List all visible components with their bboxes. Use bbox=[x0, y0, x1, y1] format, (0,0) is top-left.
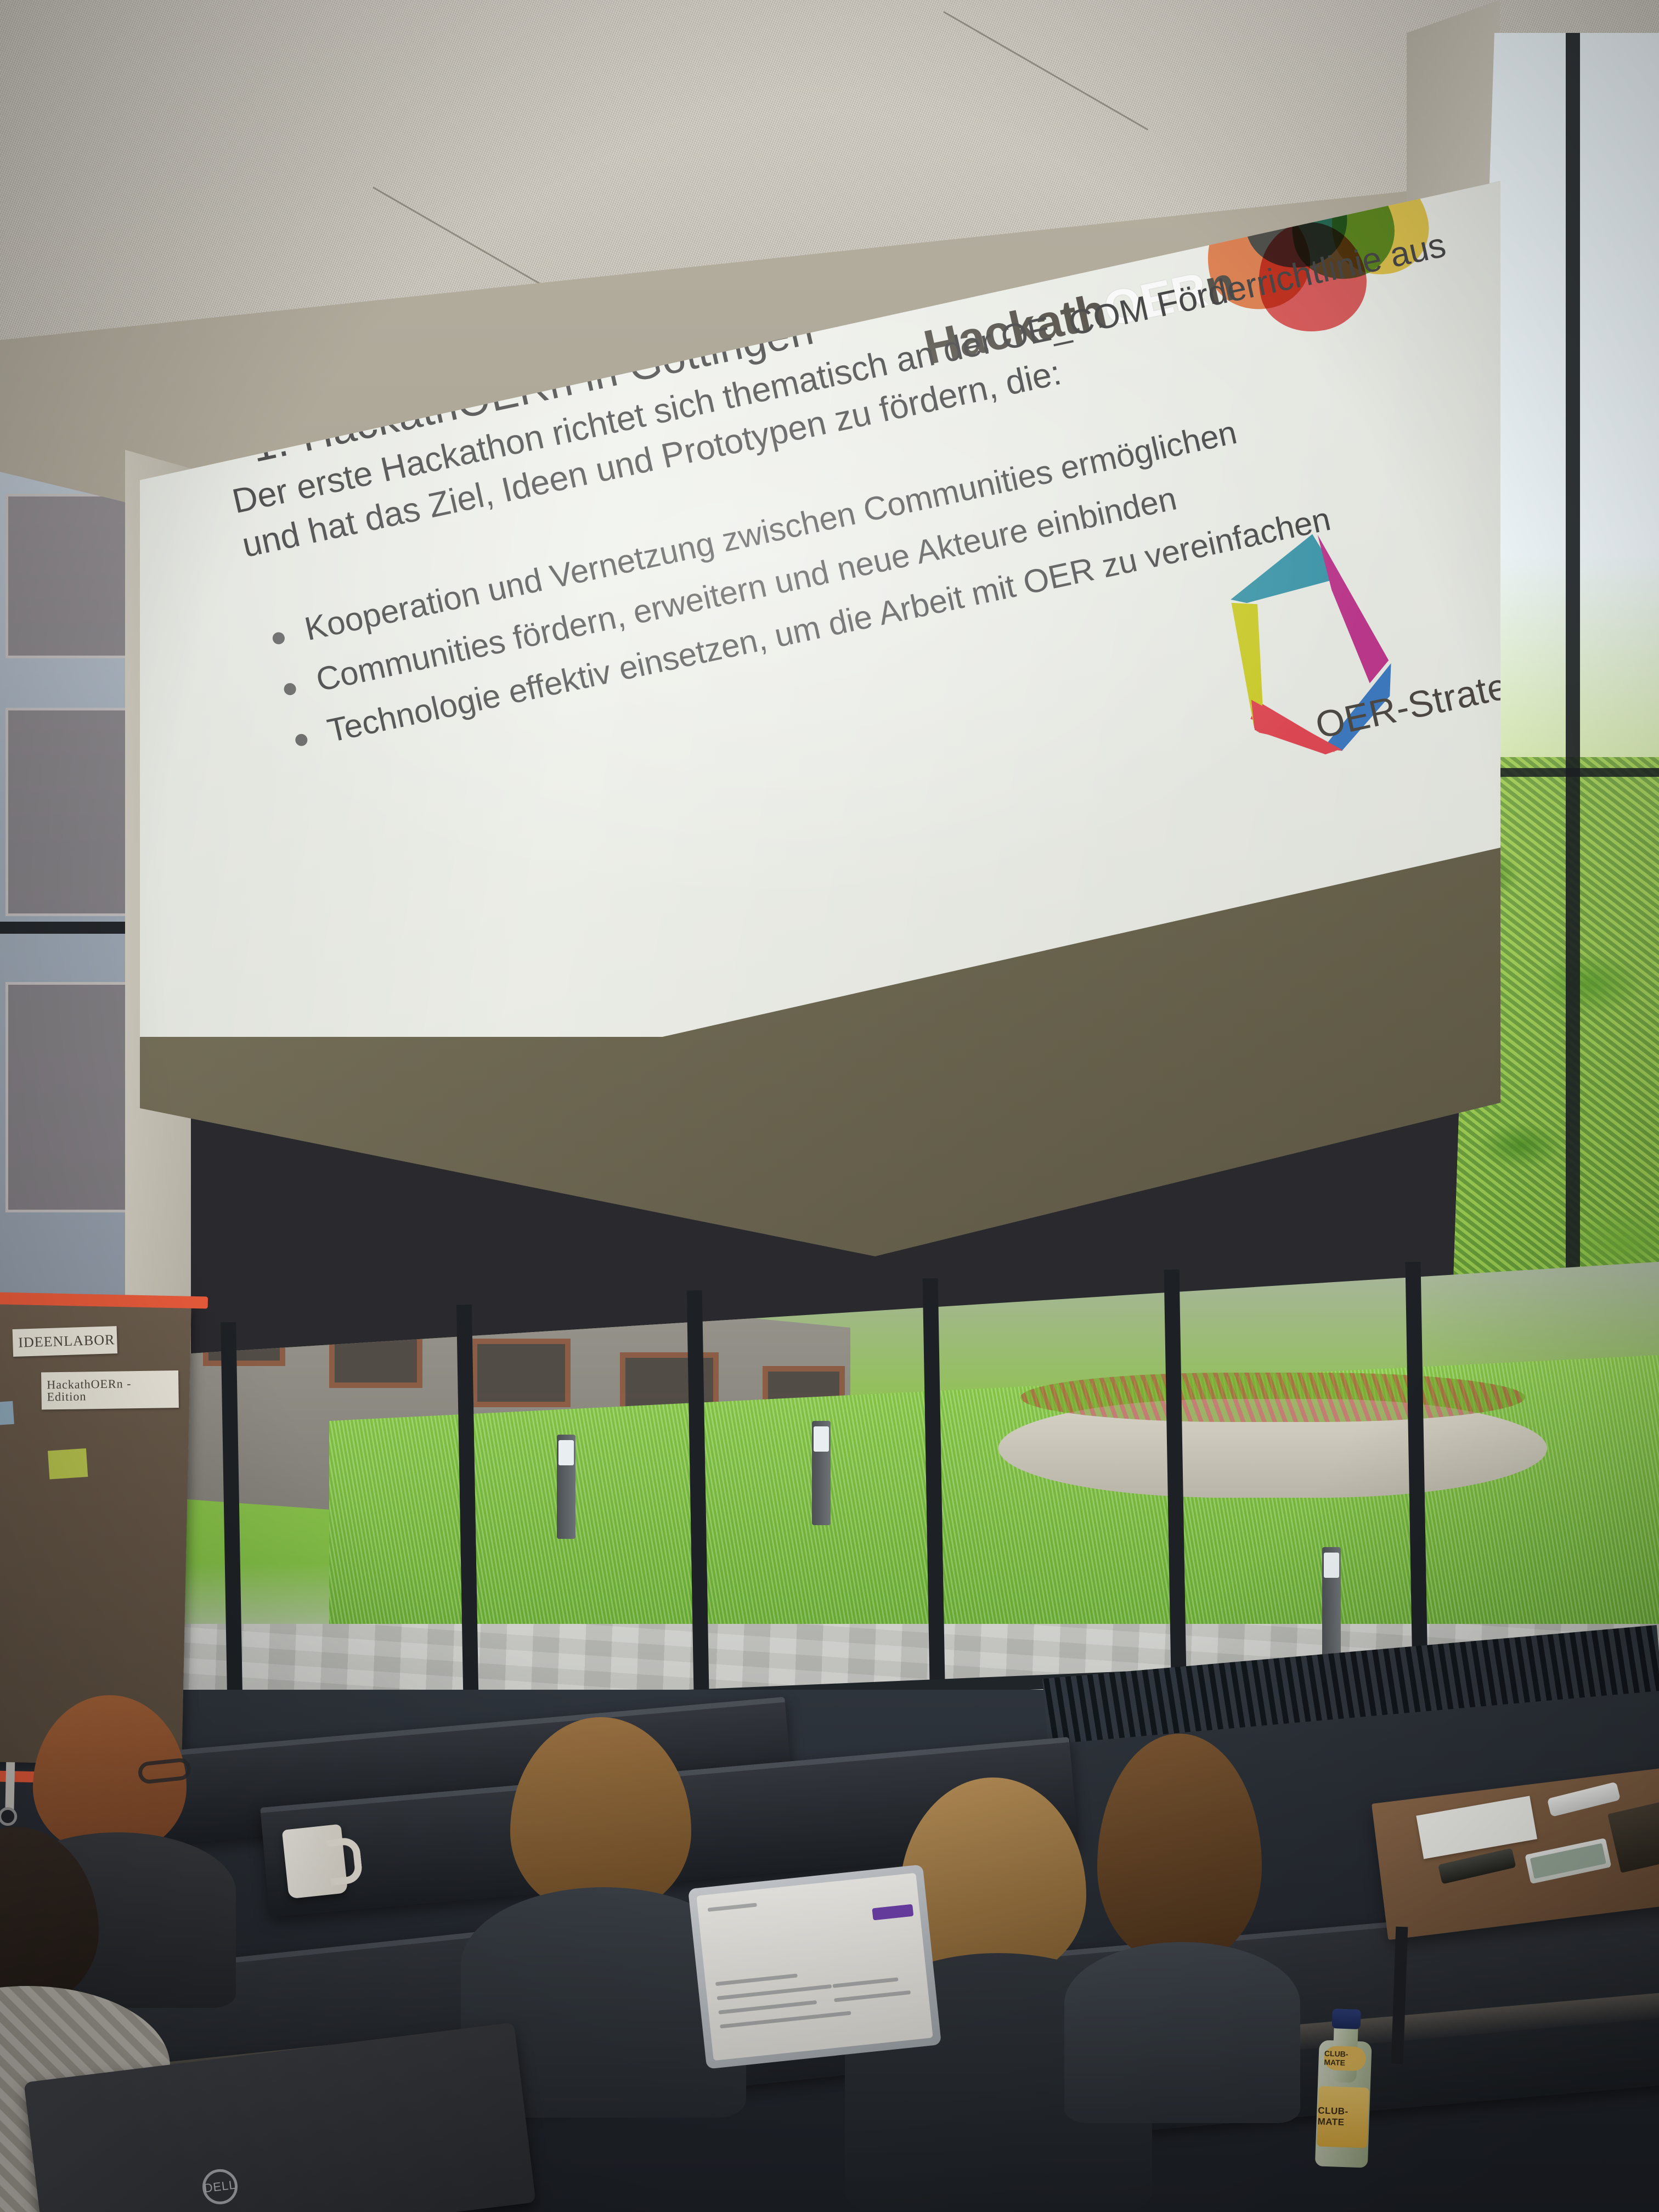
bottle-neck-label: CLUB-MATE bbox=[1324, 2046, 1366, 2072]
window-mullion bbox=[1566, 33, 1580, 1404]
dell-logo: DELL bbox=[200, 2167, 239, 2206]
coffee-mug bbox=[282, 1824, 348, 1899]
screen-line bbox=[720, 2011, 851, 2029]
laptop-lid bbox=[688, 1864, 941, 2069]
paper-sheet bbox=[1416, 1796, 1537, 1859]
sticky-note-blue bbox=[0, 1401, 14, 1426]
screen-accent-block bbox=[872, 1904, 913, 1921]
title-number: 1. bbox=[246, 416, 292, 471]
screen-line bbox=[718, 2000, 817, 2015]
desk-tray bbox=[1607, 1793, 1659, 1873]
lecture-hall-scene: HackathOERn 1.HackathOERn in Göttingen D… bbox=[0, 0, 1659, 2212]
control-tablet[interactable] bbox=[1525, 1838, 1611, 1884]
laptop-macbook bbox=[688, 1864, 941, 2069]
smartphone[interactable] bbox=[1547, 1782, 1621, 1817]
screen-line bbox=[717, 1984, 832, 2000]
screen-line bbox=[834, 1990, 911, 2002]
laptop-screen bbox=[696, 1873, 933, 2061]
pinboard: IDEENLABOR HackathOERn - Edition bbox=[0, 1301, 191, 1765]
screen-line bbox=[715, 1973, 798, 1986]
slide-content: HackathOERn 1.HackathOERn in Göttingen D… bbox=[140, 181, 1500, 999]
screen-line bbox=[832, 1977, 898, 1988]
club-mate-bottle: CLUB-MATE CLUB-MATE bbox=[1315, 2001, 1373, 2168]
bottle-label: CLUB-MATE bbox=[1317, 2086, 1369, 2148]
screen-line bbox=[708, 1903, 757, 1911]
sign-hackathoern-edition: HackathOERn - Edition bbox=[41, 1370, 179, 1409]
projection-screen-assembly: HackathOERn 1.HackathOERn in Göttingen D… bbox=[140, 181, 1500, 1410]
oer-triangle-teal bbox=[1221, 531, 1341, 606]
torso bbox=[1064, 1942, 1300, 2123]
bottle-cap bbox=[1332, 2008, 1361, 2029]
oer-triangle-magenta bbox=[1318, 526, 1393, 687]
sign-ideenlabor: IDEENLABOR bbox=[13, 1326, 117, 1357]
sticky-note-green bbox=[48, 1448, 88, 1480]
